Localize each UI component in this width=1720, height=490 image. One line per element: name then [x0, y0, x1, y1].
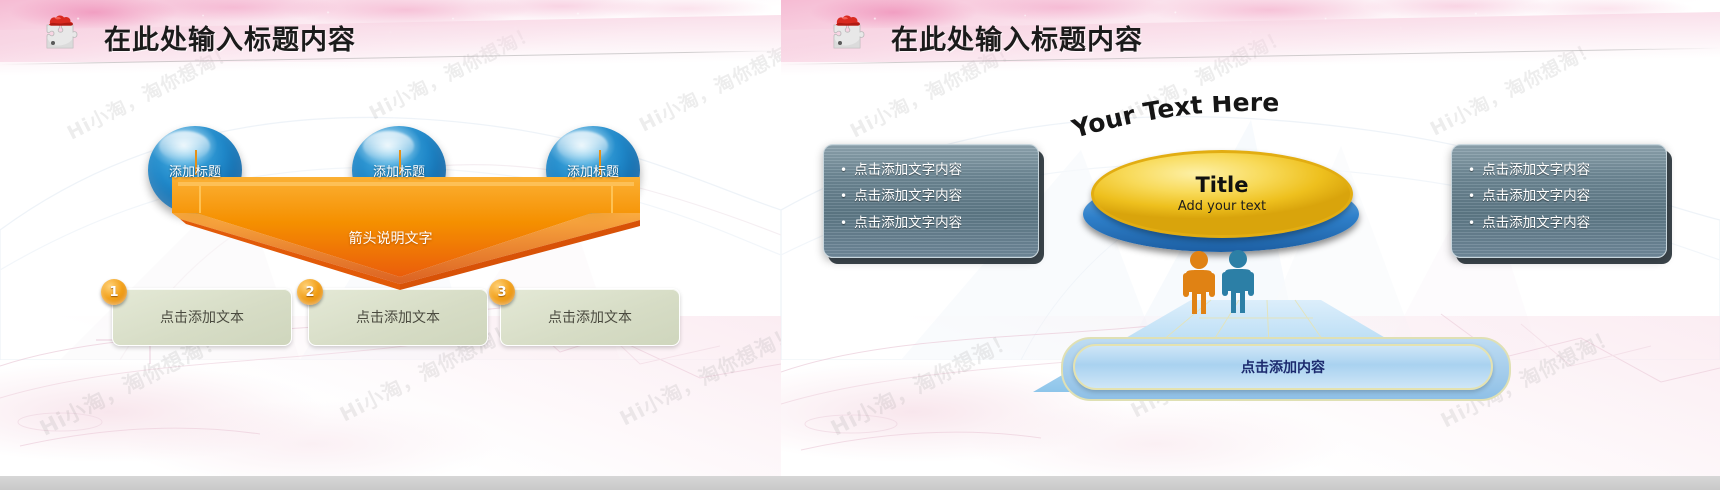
slide-footer-bar	[0, 476, 781, 490]
arrow-caption: 箭头说明文字	[0, 228, 781, 248]
bubble-label: 添加标题	[373, 161, 425, 180]
puzzle-piece-icon	[825, 14, 871, 54]
content-box-left[interactable]: 点击添加文字内容 点击添加文字内容 点击添加文字内容	[823, 144, 1039, 258]
page-title: 在此处输入标题内容	[891, 18, 1143, 57]
list-item: 点击添加文字内容	[840, 157, 1028, 183]
person-orange-icon	[1183, 251, 1215, 314]
list-item: 点击添加文字内容	[1468, 183, 1656, 209]
bubble-label: 添加标题	[169, 161, 221, 180]
svg-text:Your Text Here: Your Text Here	[1068, 96, 1280, 142]
disc-title: Title	[1195, 174, 1248, 196]
bottom-pill-label: 点击添加内容	[1241, 357, 1325, 377]
list-item: 点击添加文字内容	[840, 183, 1028, 209]
slide-footer-bar	[781, 476, 1720, 490]
presentation-preview: Hi小淘，淘你想淘！ Hi小淘，淘你想淘！ Hi小淘，淘你想淘！ Hi小淘，淘你…	[0, 0, 1720, 490]
slide-right[interactable]: Hi小淘，淘你想淘！ Hi小淘，淘你想淘！ Hi小淘，淘你想淘！ Hi小淘，淘你…	[781, 0, 1720, 490]
list-item: 点击添加文字内容	[840, 210, 1028, 236]
people-figures	[1179, 250, 1263, 318]
list-item: 点击添加文字内容	[1468, 157, 1656, 183]
person-blue-icon	[1222, 250, 1254, 313]
list-item: 点击添加文字内容	[1468, 210, 1656, 236]
slide-header: 在此处输入标题内容	[781, 0, 1720, 66]
content-box-right[interactable]: 点击添加文字内容 点击添加文字内容 点击添加文字内容	[1451, 144, 1667, 258]
slide-left[interactable]: Hi小淘，淘你想淘！ Hi小淘，淘你想淘！ Hi小淘，淘你想淘！ Hi小淘，淘你…	[0, 0, 781, 490]
disc-top[interactable]: Title Add your text	[1091, 150, 1353, 238]
arc-text-wordart: Your Text Here	[1063, 96, 1393, 142]
bubble-label: 添加标题	[567, 161, 619, 180]
bottom-pill[interactable]: 点击添加内容	[1073, 344, 1493, 390]
converging-arrow-shape	[0, 0, 781, 400]
center-disc[interactable]: Title Add your text	[1071, 148, 1371, 254]
disc-subtitle: Add your text	[1178, 199, 1266, 214]
